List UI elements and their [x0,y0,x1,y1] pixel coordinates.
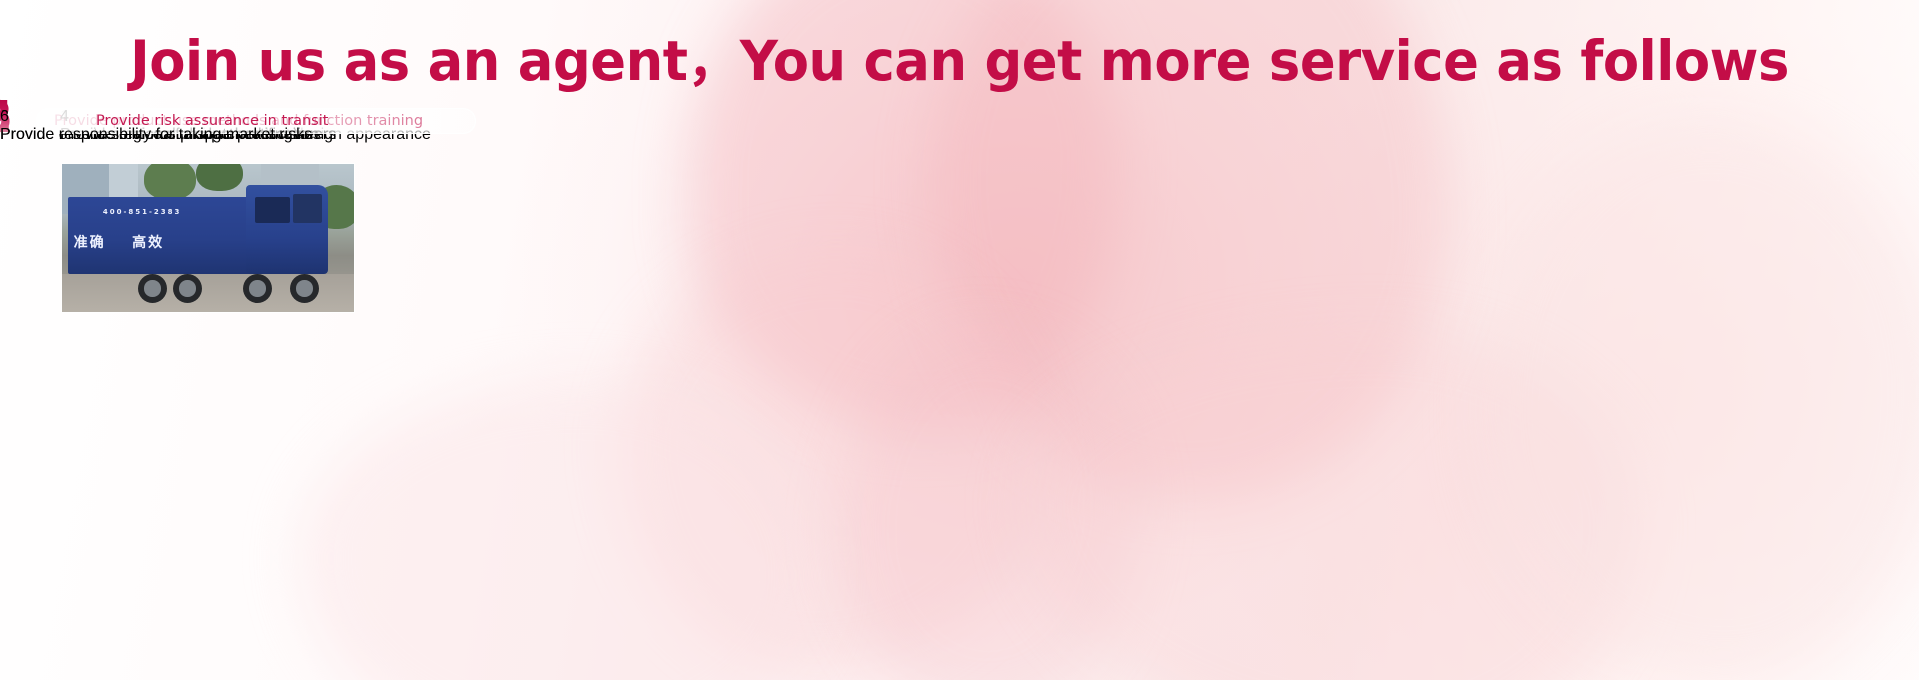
service-items-grid: 1 Provide the most unique product design… [0,108,1919,668]
truck-slogan-left: 准确 [74,232,106,252]
service-item-6: 6 Provide responsibility for taking mark… [0,108,428,150]
contract-signing-photo [0,144,428,150]
item-number-6: 6 [0,108,428,126]
page-title: Join us as an agent，You can get more ser… [38,26,1880,96]
promotional-poster: Join us as an agent，You can get more ser… [0,0,1919,680]
truck-slogan-right: 高效 [132,232,164,252]
truck-phone-text: 400-851-2383 [103,208,182,216]
item-label-text-6: Provide responsibility for taking market… [0,126,312,143]
item-label-pill-6: Provide responsibility for taking market… [0,126,428,144]
blue-cargo-truck-photo: 400-851-2383 准确 高效 [62,164,354,312]
